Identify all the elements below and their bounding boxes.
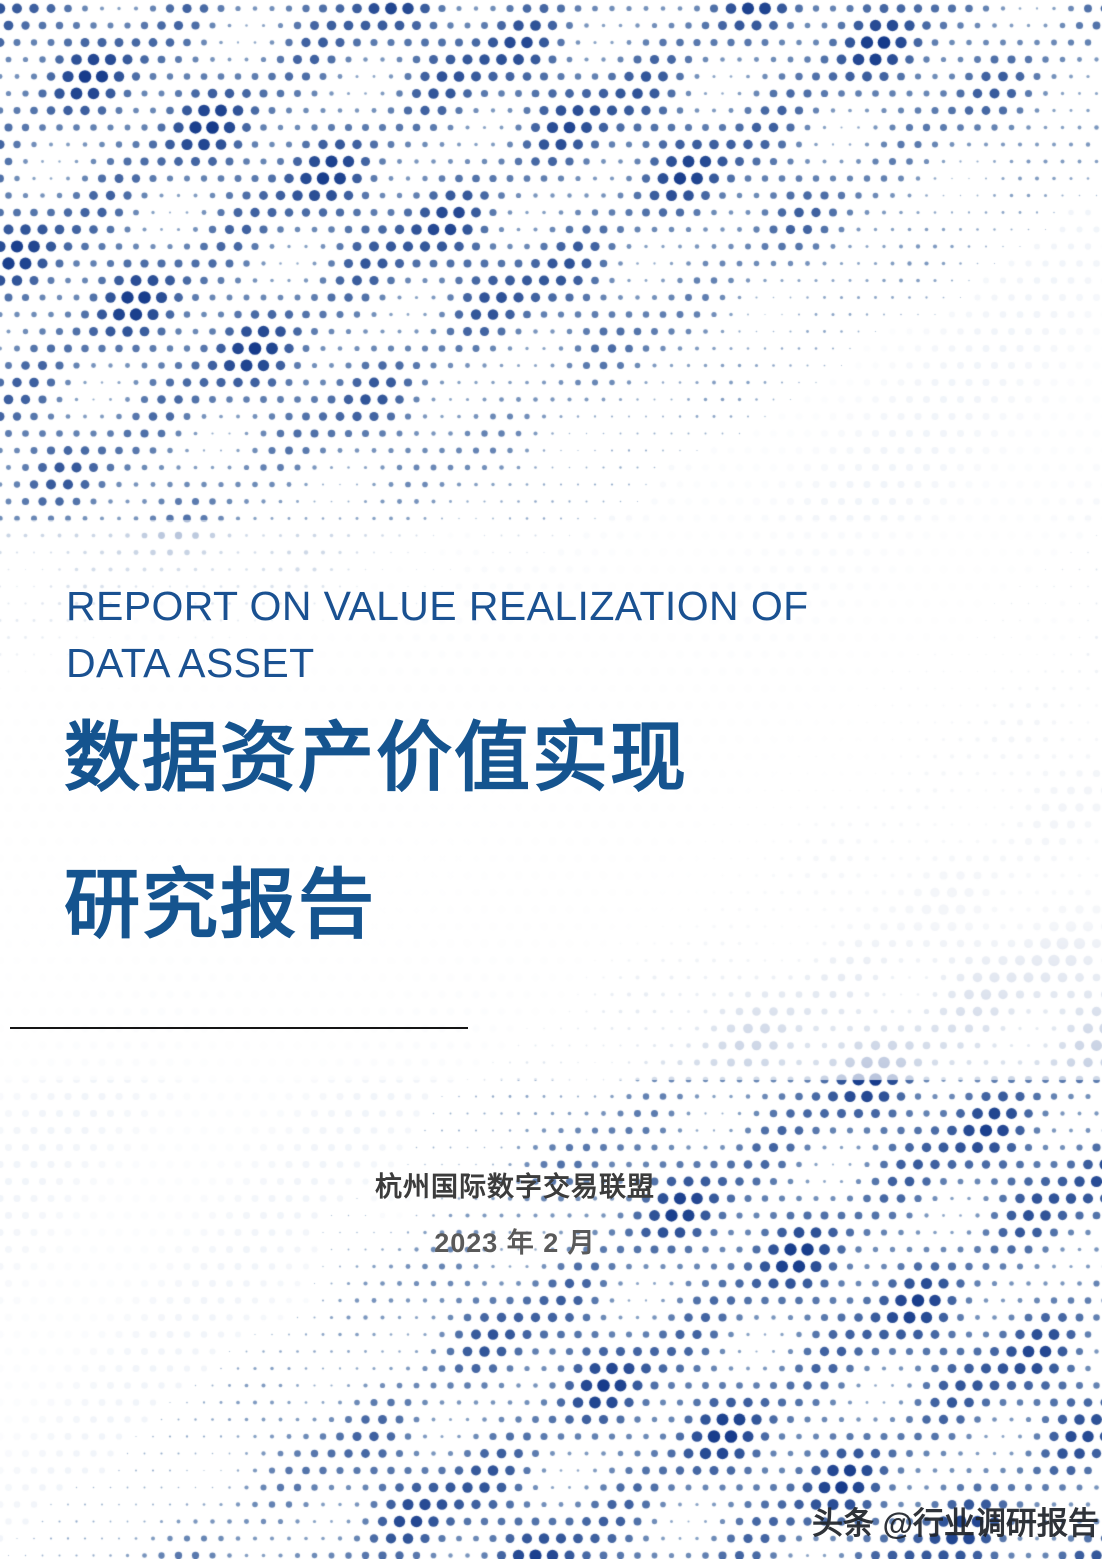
publication-date: 2023 年 2 月 — [0, 1224, 1030, 1262]
title-divider-rule — [10, 1027, 468, 1029]
english-title: REPORT ON VALUE REALIZATION OF DATA ASSE… — [66, 578, 966, 692]
chinese-title: 数据资产价值实现 研究报告 — [64, 716, 964, 948]
chinese-title-line-1: 数据资产价值实现 — [64, 716, 964, 801]
report-cover-page: REPORT ON VALUE REALIZATION OF DATA ASSE… — [0, 0, 1102, 1559]
publisher-name: 杭州国际数字交易联盟 — [0, 1168, 1030, 1206]
watermark-label: 头条 @行业调研报告 — [812, 1498, 1099, 1543]
chinese-title-line-2: 研究报告 — [64, 863, 964, 948]
publisher-block: 杭州国际数字交易联盟 2023 年 2 月 — [0, 1168, 1030, 1262]
